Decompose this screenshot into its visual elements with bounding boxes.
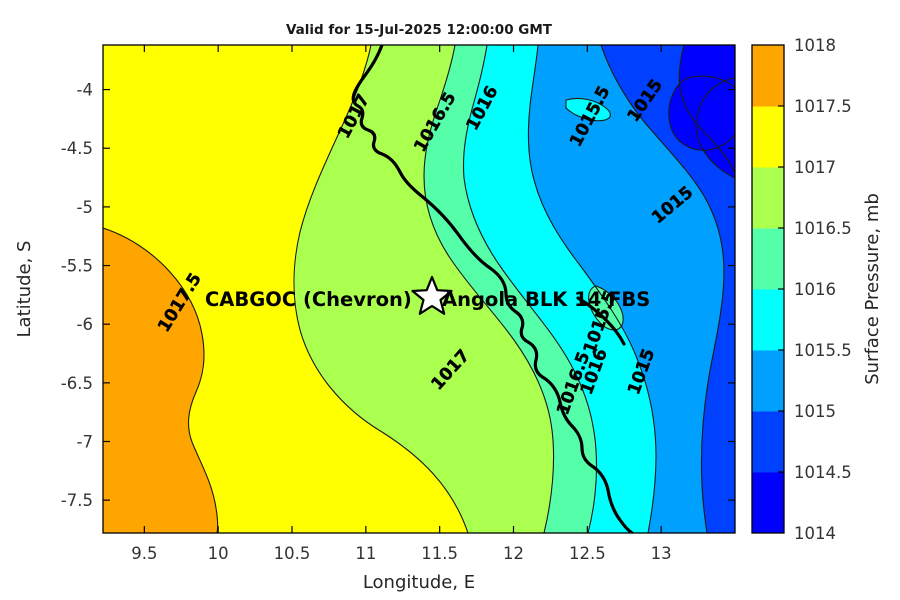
y-tick-label: -6 [77,315,93,334]
colorbar-tick-label: 1016 [794,280,836,299]
colorbar-label: Surface Pressure, mb [862,193,883,385]
y-tick-label: -7 [77,433,93,452]
contour-plot-area: 10171016.510161015.5101510151017.5101710… [103,45,743,533]
colorbar-tick-label: 1017 [794,158,836,177]
colorbar-band-3 [752,289,784,351]
colorbar-tick-label: 1017.5 [794,97,852,116]
y-tick-label: -5.5 [61,257,93,276]
colorbar-tick-label: 1014.5 [794,463,852,482]
x-tick-label: 11.5 [421,544,458,563]
x-tick-label: 12 [503,544,524,563]
colorbar-band-4 [752,228,784,290]
x-tick-label: 11 [355,544,376,563]
y-tick-label: -6.5 [61,374,93,393]
site-label-right: Angola BLK 14 FBS [442,288,650,311]
colorbar-band-5 [752,167,784,229]
x-tick-label: 9.5 [131,544,157,563]
colorbar-band-7 [752,45,784,107]
colorbar-tick-label: 1016.5 [794,219,852,238]
y-axis-label: Latitude, S [14,241,35,338]
colorbar-band-2 [752,350,784,412]
colorbar-band-6 [752,106,784,168]
x-tick-label: 10.5 [274,544,311,563]
colorbar-tick-label: 1018 [794,36,836,55]
colorbar-tick-label: 1015.5 [794,341,852,360]
chart-title: Valid for 15-Jul-2025 12:00:00 GMT [286,22,553,38]
x-axis-label: Longitude, E [363,572,475,593]
x-tick-label: 10 [208,544,229,563]
x-tick-label: 13 [651,544,672,563]
x-tick-label: 12.5 [569,544,606,563]
y-tick-label: -4 [77,81,93,100]
y-tick-label: -7.5 [61,491,93,510]
y-tick-label: -5 [77,198,93,217]
colorbar-band-0 [752,472,784,534]
site-label-left: CABGOC (Chevron) [205,288,412,311]
colorbar-tick-label: 1015 [794,402,836,421]
colorbar-tick-label: 1014 [794,524,836,543]
surface-pressure-contour-figure: Valid for 15-Jul-2025 12:00:00 GMT [0,0,900,600]
y-tick-label: -4.5 [61,139,93,158]
colorbar-band-1 [752,411,784,473]
